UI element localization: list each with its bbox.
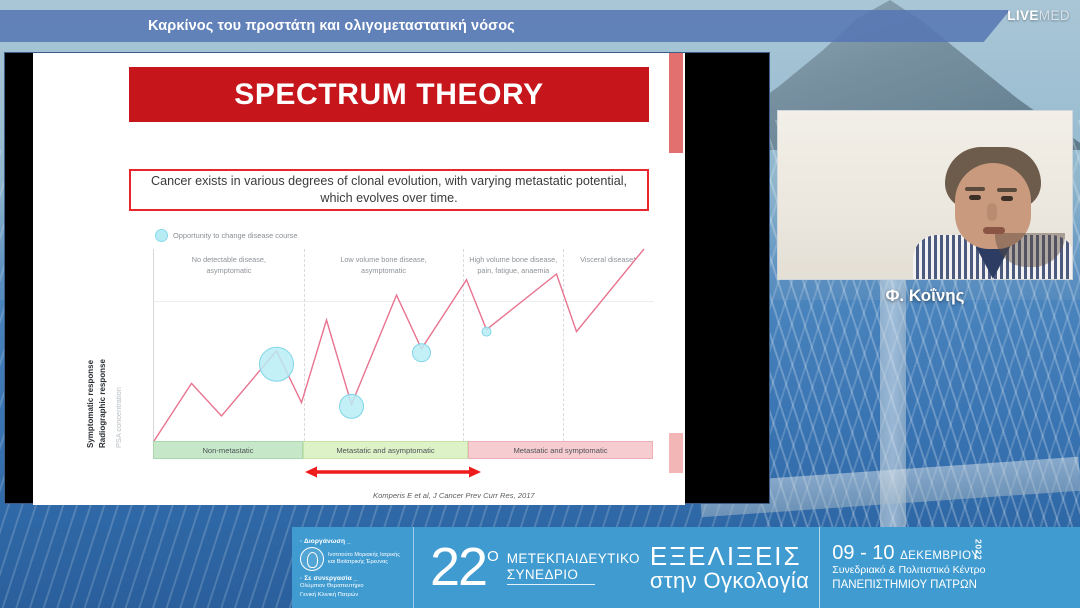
chart-y-axis-labels: Symptomatic response Radiographic respon…: [93, 251, 149, 441]
chart-legend: Opportunity to change disease course: [155, 229, 298, 242]
spectrum-chart: Opportunity to change disease course Sym…: [93, 229, 653, 479]
speaker-nose: [987, 203, 997, 221]
footer-month: ΔΕΚΕΜΒΡΙΟΥ: [900, 550, 979, 562]
speaker-eye-right: [1001, 196, 1013, 201]
footer-edition-ordinal: Ο: [487, 549, 499, 564]
slide-citation: Komperis E et al, J Cancer Prev Curr Res…: [373, 491, 535, 500]
footer-date-venue: 09 - 10 ΔΕΚΕΜΒΡΙΟΥ Συνεδριακό & Πολιτιστ…: [820, 527, 985, 608]
legend-opportunity-icon: [155, 229, 168, 242]
slide-title-text: SPECTRUM THEORY: [234, 78, 544, 112]
footer-organizer-row: Ινστιτούτο Μοριακής Ιατρικής και Βιοϊατρ…: [300, 547, 407, 571]
legend-opportunity-label: Opportunity to change disease course: [173, 231, 298, 240]
y-label-symptomatic: Symptomatic response: [86, 360, 95, 448]
opportunity-marker-4: [482, 327, 491, 336]
opportunity-marker-group: [260, 327, 492, 418]
slide-edge-strip-bottom: [669, 433, 683, 473]
footer-year: 2022: [973, 539, 983, 560]
speaker-name-label: Φ. Κοΐνης: [777, 286, 1073, 306]
footer-venue-l1: Συνεδριακό & Πολιτιστικό Κέντρο: [832, 564, 985, 578]
footer-organizer-label: · Διοργάνωση _: [300, 538, 407, 545]
livemed-logo: LIVEMED: [1007, 8, 1070, 23]
footer-edition-number: 22 Ο: [414, 527, 499, 608]
chart-series-svg: [154, 249, 654, 441]
footer-cooperation-l1: Ολύμπιον Θεραπευτήριο: [300, 583, 407, 591]
slide-subtitle-text: Cancer exists in various degrees of clon…: [131, 173, 647, 207]
double-arrow-svg: [305, 465, 481, 479]
opportunity-marker-3: [413, 344, 431, 362]
footer-brand-l2: στην Ογκολογία: [650, 569, 809, 592]
speaker-video-panel[interactable]: [777, 110, 1073, 280]
band-metastatic-asymptomatic: Metastatic and asymptomatic: [303, 441, 468, 459]
y-label-psa: PSA concentration: [114, 387, 123, 448]
footer-congress-l1: ΜΕΤΕΚΠΑΙΔΕΥΤΙΚΟ: [507, 551, 640, 566]
psa-concentration-line: [154, 249, 644, 441]
webinar-screen: Καρκίνος του προστάτη και ολιγομεταστατι…: [0, 0, 1080, 608]
footer-organizers: · Διοργάνωση _ Ινστιτούτο Μοριακής Ιατρι…: [292, 527, 414, 608]
slide-canvas: SPECTRUM THEORY Cancer exists in various…: [33, 53, 685, 505]
opportunity-marker-1: [260, 347, 294, 381]
footer-cooperation-l2: Γενική Κλινική Πατρών: [300, 592, 407, 600]
slide-share-panel[interactable]: SPECTRUM THEORY Cancer exists in various…: [4, 52, 770, 504]
slide-subtitle-box: Cancer exists in various degrees of clon…: [129, 169, 649, 211]
footer-organizer-name-l1: Ινστιτούτο Μοριακής Ιατρικής: [328, 552, 400, 559]
slide-edge-strip-top: [669, 53, 683, 153]
session-title: Καρκίνος του προστάτη και ολιγομεταστατι…: [148, 18, 515, 34]
footer-organizer-name: Ινστιτούτο Μοριακής Ιατρικής και Βιοϊατρ…: [328, 552, 400, 566]
footer-organizer-name-l2: και Βιοϊατρικής Έρευνας: [328, 559, 400, 566]
y-label-radiographic: Radiographic response: [98, 359, 107, 448]
band-non-metastatic: Non-metastatic: [153, 441, 303, 459]
window-of-opportunity-arrow: [305, 465, 481, 479]
logo-live-text: LIVE: [1007, 8, 1039, 23]
speaker-eyebrow-right: [997, 188, 1017, 192]
footer-brand-l1: ΕΞΕΛΙΞΕΙΣ: [650, 543, 809, 570]
institute-seal-icon: [300, 547, 324, 571]
logo-med-text: MED: [1039, 8, 1070, 23]
footer-dates-row: 09 - 10 ΔΕΚΕΜΒΡΙΟΥ: [832, 542, 985, 564]
speaker-figure: [919, 147, 1069, 279]
opportunity-marker-2: [340, 394, 364, 418]
footer-cooperation-label: · Σε συνεργασία _: [300, 575, 407, 582]
footer-edition-digits: 22: [430, 544, 486, 590]
conference-footer-banner: · Διοργάνωση _ Ινστιτούτο Μοριακής Ιατρι…: [292, 527, 1080, 608]
session-title-banner: Καρκίνος του προστάτη και ολιγομεταστατι…: [0, 10, 1010, 42]
footer-congress-l2: ΣΥΝΕΔΡΙΟ: [507, 567, 595, 585]
footer-venue-l2: ΠΑΝΕΠΙΣΤΗΜΙΟΥ ΠΑΤΡΩΝ: [832, 578, 985, 592]
band-metastatic-symptomatic: Metastatic and symptomatic: [468, 441, 653, 459]
speaker-mouth: [983, 227, 1005, 234]
slide-title-bar: SPECTRUM THEORY: [129, 67, 649, 122]
footer-brand: ΕΞΕΛΙΞΕΙΣ στην Ογκολογία: [640, 527, 820, 608]
speaker-eyebrow-left: [965, 187, 985, 191]
footer-congress-type: ΜΕΤΕΚΠΑΙΔΕΥΤΙΚΟ ΣΥΝΕΔΡΙΟ: [499, 527, 640, 608]
speaker-eye-left: [969, 195, 981, 200]
chart-disease-bands: Non-metastatic Metastatic and asymptomat…: [153, 441, 653, 459]
chart-plot-area: No detectable disease, asymptomatic Low …: [153, 249, 653, 441]
footer-dates: 09 - 10: [832, 542, 894, 564]
